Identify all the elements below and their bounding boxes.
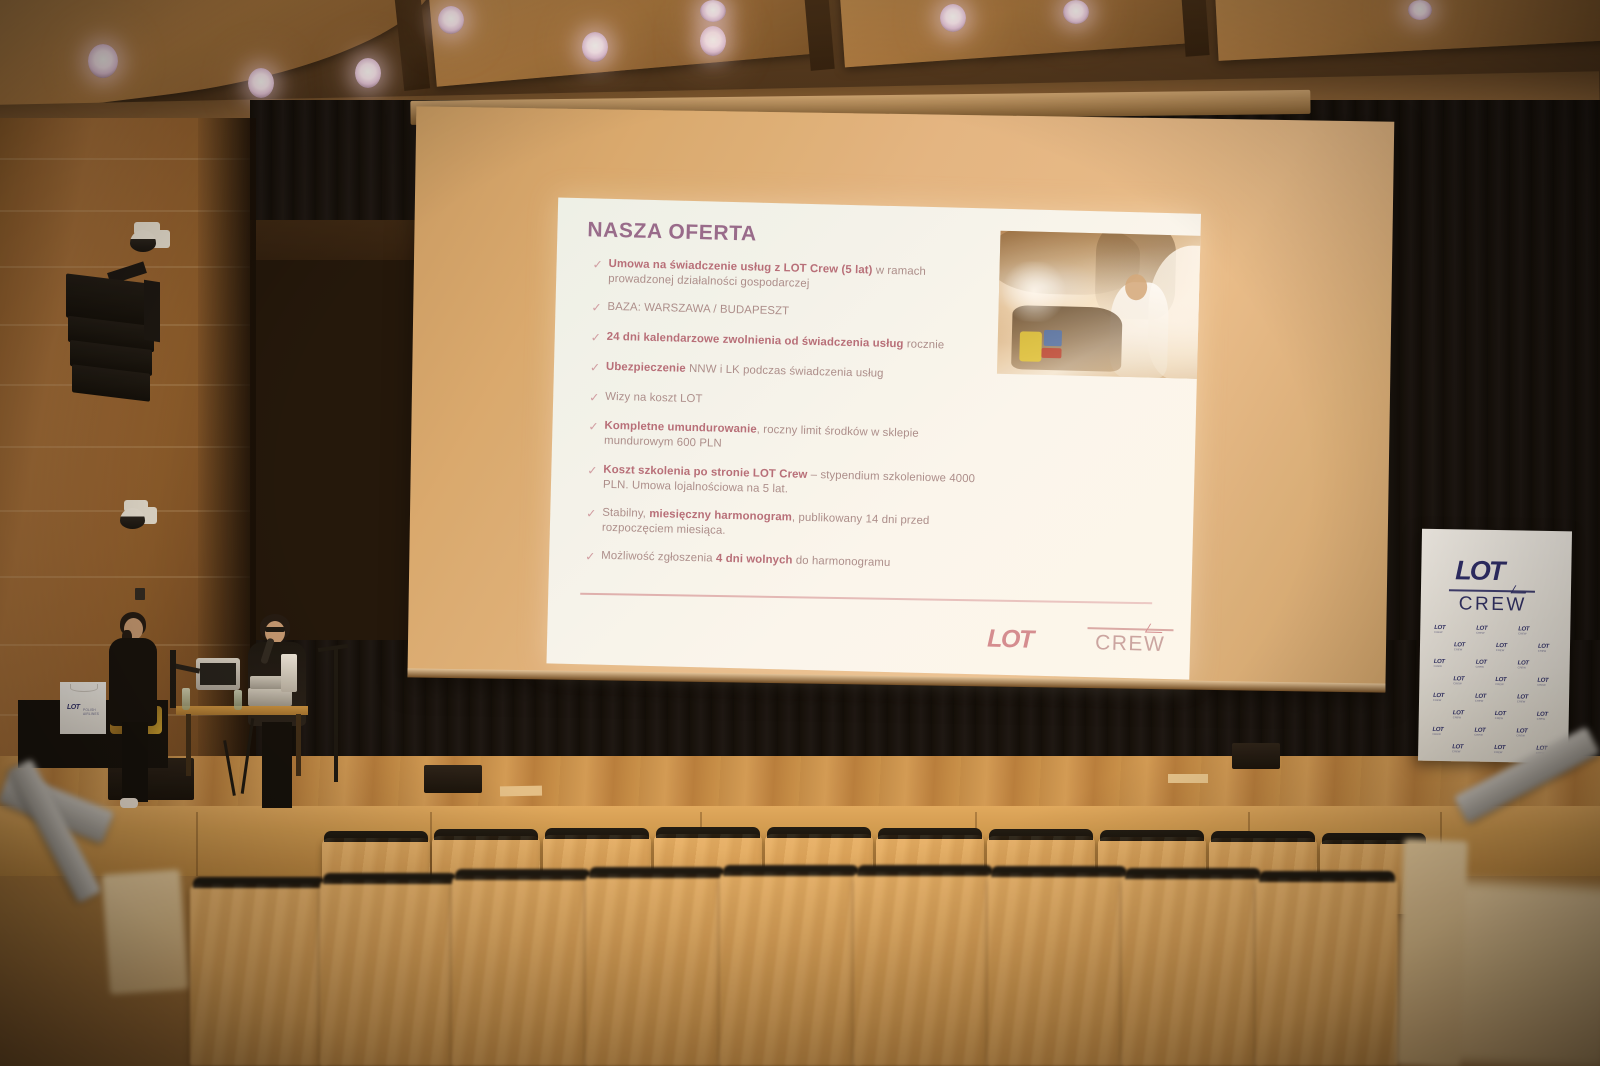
audience-seat xyxy=(854,872,996,1066)
audience-seat xyxy=(1256,878,1398,1066)
banner-pattern-logo: LOTCREW xyxy=(1434,625,1445,634)
banner-pattern-logo: LOTCREW xyxy=(1516,728,1527,737)
check-icon: ✓ xyxy=(590,360,606,376)
foreground-seat-back xyxy=(1396,839,1468,1066)
banner-logo-word: CREW xyxy=(1459,593,1527,616)
slide-bullet: ✓Możliwość zgłoszenia 4 dni wolnych do h… xyxy=(585,548,980,575)
computer-monitor xyxy=(196,658,240,690)
ceiling-spotlight xyxy=(700,26,726,56)
ceiling-spotlight xyxy=(355,58,381,88)
banner-pattern-logo: LOTCREW xyxy=(1453,710,1464,719)
lot-crew-banner: LOT CREW LOTCREWLOTCREWLOTCREWLOTCREWLOT… xyxy=(1418,529,1572,764)
projection-screen: NASZA OFERTA ✓Umowa na świadczenie usług… xyxy=(399,88,1398,693)
ceiling-beam xyxy=(1178,0,1209,57)
slide-bullet-text: BAZA: WARSZAWA / BUDAPESZT xyxy=(607,300,789,320)
banner-pattern-logo: LOTCREW xyxy=(1494,745,1505,754)
banner-pattern-logo: LOTCREW xyxy=(1453,676,1464,685)
slide-bullet-text: Kompletne umundurowanie, roczny limit śr… xyxy=(604,419,984,459)
ceiling-beam xyxy=(392,0,430,91)
paper-on-stage xyxy=(500,786,542,797)
paper-on-stage xyxy=(1168,774,1208,783)
audience-seat xyxy=(190,884,328,1066)
check-icon: ✓ xyxy=(589,390,605,406)
check-icon: ✓ xyxy=(592,257,608,273)
wall-plate xyxy=(135,588,145,600)
slide-bullet: ✓Umowa na świadczenie usług z LOT Crew (… xyxy=(592,256,988,296)
banner-pattern-logo: LOTCREW xyxy=(1518,626,1529,635)
banner-pattern-logo: LOTCREW xyxy=(1452,744,1463,753)
check-icon: ✓ xyxy=(590,330,606,346)
ceiling-spotlight xyxy=(438,6,464,34)
slide-bullet: ✓Stabilny, miesięczny harmonogram, publi… xyxy=(586,505,982,545)
banner-pattern-logo: LOTCREW xyxy=(1474,728,1485,737)
ceiling-spotlight xyxy=(582,32,608,62)
microphone-stand xyxy=(334,648,338,782)
check-icon: ✓ xyxy=(586,506,602,522)
auditorium-photo: NASZA OFERTA ✓Umowa na świadczenie usług… xyxy=(0,0,1600,1066)
slide-bullet-text: Stabilny, miesięczny harmonogram, publik… xyxy=(602,505,982,545)
slide-bullet-text: Ubezpieczenie NNW i LK podczas świadczen… xyxy=(606,360,884,382)
slide-bullet-text: 24 dni kalendarzowe zwolnienia od świadc… xyxy=(607,330,945,354)
ceiling-spotlight xyxy=(1408,0,1432,20)
cockpit-photo xyxy=(997,231,1201,380)
banner-pattern-logo: LOTCREW xyxy=(1475,694,1486,703)
slide-bullet-text: Umowa na świadczenie usług z LOT Crew (5… xyxy=(608,257,988,297)
lot-paper-bag: LOT POLISH AIRLINES xyxy=(60,682,106,734)
banner-pattern-logo: LOTCREW xyxy=(1454,642,1465,651)
audience-seat xyxy=(320,880,460,1066)
banner-pattern-logo: LOTCREW xyxy=(1476,626,1487,635)
ceiling-spotlight xyxy=(88,44,118,78)
crane-icon xyxy=(1511,585,1531,593)
foreground-seat-panel xyxy=(102,869,188,994)
audience-seat xyxy=(988,873,1130,1066)
lot-logo-word: CREW xyxy=(1095,631,1166,657)
bag-logo-sub: POLISH AIRLINES xyxy=(83,708,106,716)
banner-pattern-logo: LOTCREW xyxy=(1476,660,1487,669)
ceiling-spotlight xyxy=(940,4,966,32)
check-icon: ✓ xyxy=(585,549,601,565)
slide-divider xyxy=(580,593,1152,604)
banner-pattern-logo: LOTCREW xyxy=(1538,644,1549,653)
slide-bullet-list: ✓Umowa na świadczenie usług z LOT Crew (… xyxy=(585,256,988,587)
slide-bullet: ✓Ubezpieczenie NNW i LK podczas świadcze… xyxy=(590,359,985,386)
banner-pattern-logo: LOTCREW xyxy=(1517,694,1528,703)
desktop-tower xyxy=(281,654,297,692)
audience-seat xyxy=(586,874,728,1066)
stage-monitor-speaker xyxy=(1232,743,1280,769)
presentation-slide: NASZA OFERTA ✓Umowa na świadczenie usług… xyxy=(546,198,1201,680)
banner-pattern-logo: LOTCREW xyxy=(1433,693,1444,702)
equipment-table xyxy=(176,706,308,715)
bag-logo-mark: LOT xyxy=(67,704,80,711)
ceiling-spotlight xyxy=(248,68,274,98)
lot-logo-mark: LOT xyxy=(987,625,1033,655)
slide-title: NASZA OFERTA xyxy=(587,218,757,246)
crane-icon xyxy=(1145,624,1167,633)
stage-monitor-speaker xyxy=(424,765,482,793)
check-icon: ✓ xyxy=(587,463,603,479)
audience-seat xyxy=(452,876,594,1066)
audience-seat xyxy=(720,872,862,1066)
banner-pattern-logo: LOTCREW xyxy=(1518,660,1529,669)
water-bottle xyxy=(182,688,190,710)
ceiling-spotlight xyxy=(700,0,726,22)
glasses-icon xyxy=(265,627,285,632)
slide-bullet-text: Koszt szkolenia po stronie LOT Crew – st… xyxy=(603,462,983,502)
monitor-post xyxy=(170,650,176,708)
lot-crew-logo: LOT CREW xyxy=(987,621,1178,660)
banner-pattern-logo: LOTCREW xyxy=(1434,659,1445,668)
banner-pattern-logo: LOTCREW xyxy=(1496,643,1507,652)
banner-logo-mark: LOT xyxy=(1455,555,1504,587)
ceiling-panel xyxy=(425,0,826,87)
slide-bullet: ✓Kompletne umundurowanie, roczny limit ś… xyxy=(588,419,984,459)
slide-bullet-text: Wizy na koszt LOT xyxy=(605,389,703,407)
ceiling-panel xyxy=(836,0,1204,67)
slide-bullet: ✓Koszt szkolenia po stronie LOT Crew – s… xyxy=(587,462,983,502)
screen-surface: NASZA OFERTA ✓Umowa na świadczenie usług… xyxy=(407,106,1394,691)
audience-seat xyxy=(1122,875,1264,1066)
ceiling-spotlight xyxy=(1063,0,1089,24)
banner-pattern-logo: LOTCREW xyxy=(1432,727,1443,736)
check-icon: ✓ xyxy=(591,301,607,317)
ceiling-panel xyxy=(1212,0,1600,61)
banner-pattern-logo: LOTCREW xyxy=(1537,678,1548,687)
banner-pattern-logo: LOTCREW xyxy=(1495,711,1506,720)
slide-bullet: ✓BAZA: WARSZAWA / BUDAPESZT xyxy=(591,300,986,327)
slide-bullet-text: Możliwość zgłoszenia 4 dni wolnych do ha… xyxy=(601,548,891,570)
banner-pattern-logo: LOTCREW xyxy=(1537,712,1548,721)
banner-pattern-logo: LOTCREW xyxy=(1495,677,1506,686)
water-bottle xyxy=(234,690,242,710)
check-icon: ✓ xyxy=(588,420,604,436)
slide-bullet: ✓24 dni kalendarzowe zwolnienia od świad… xyxy=(590,329,985,356)
slide-bullet: ✓Wizy na koszt LOT xyxy=(589,389,984,416)
